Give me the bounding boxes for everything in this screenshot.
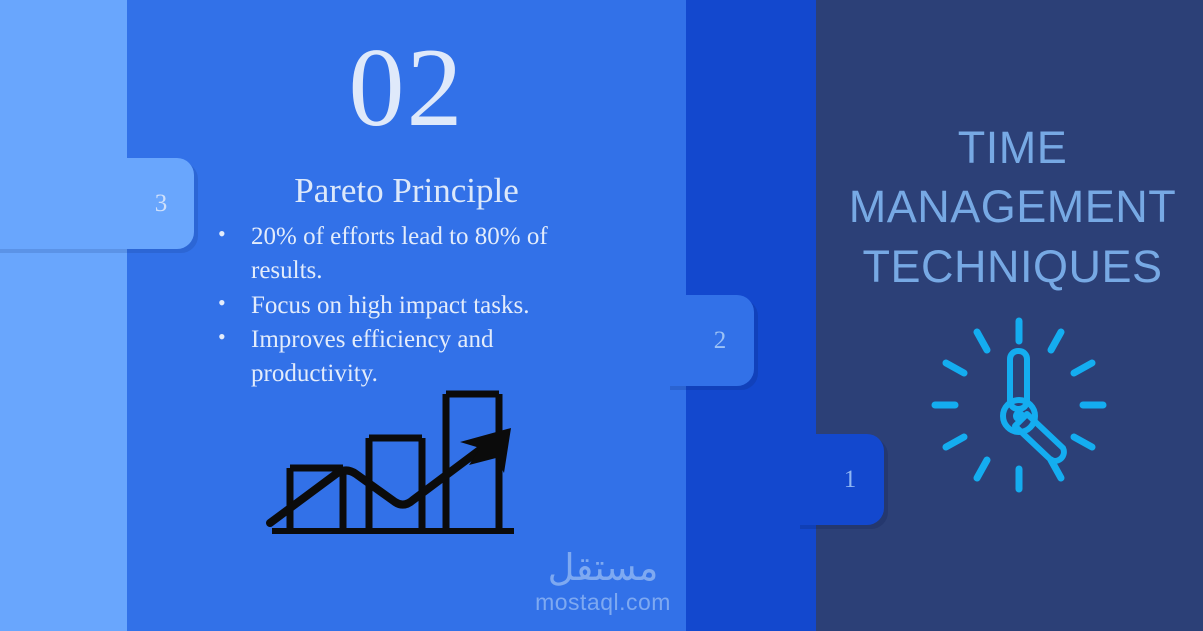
section-tab-2-label: 2 [714,328,727,353]
growth-chart-icon [264,386,522,534]
slide-number: 02 [127,32,686,144]
section-tab-2[interactable]: 2 [666,295,754,386]
list-item: Focus on high impact tasks. [212,289,612,323]
list-item: Improves efficiency and productivity. [212,323,612,391]
bullet-list: 20% of efforts lead to 80% of results. F… [212,220,612,392]
list-item: 20% of efforts lead to 80% of results. [212,220,612,288]
section-tab-1[interactable]: 1 [796,434,884,525]
presentation-slide: 3 2 1 02 Pareto Principle 20% of efforts… [0,0,1203,631]
watermark-latin: mostaql.com [520,589,686,617]
clock-icon [929,315,1109,495]
watermark: مستقل mostaql.com [520,548,686,616]
watermark-arabic: مستقل [520,548,686,589]
deck-title: TIME MANAGEMENT TECHNIQUES [840,118,1185,296]
section-title: Pareto Principle [127,172,686,211]
background-band-light [0,0,127,631]
section-tab-1-label: 1 [844,467,857,492]
